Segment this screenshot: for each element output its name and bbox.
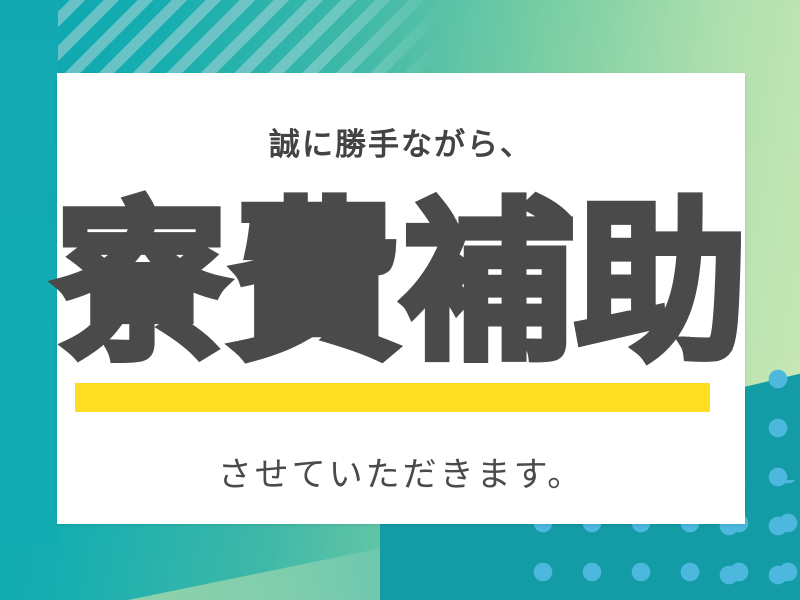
yellow-highlight-bar: [75, 383, 710, 412]
poster-canvas: 誠に勝手ながら、 寮費補助 させていただきます。: [0, 0, 800, 600]
lead-text: 誠に勝手ながら、: [57, 119, 745, 164]
tail-text: させていただきます。: [57, 447, 745, 496]
headline-text: 寮費補助: [37, 191, 767, 377]
headline-block: 寮費補助: [37, 191, 767, 376]
white-content-card: 誠に勝手ながら、 寮費補助 させていただきます。: [57, 73, 745, 524]
